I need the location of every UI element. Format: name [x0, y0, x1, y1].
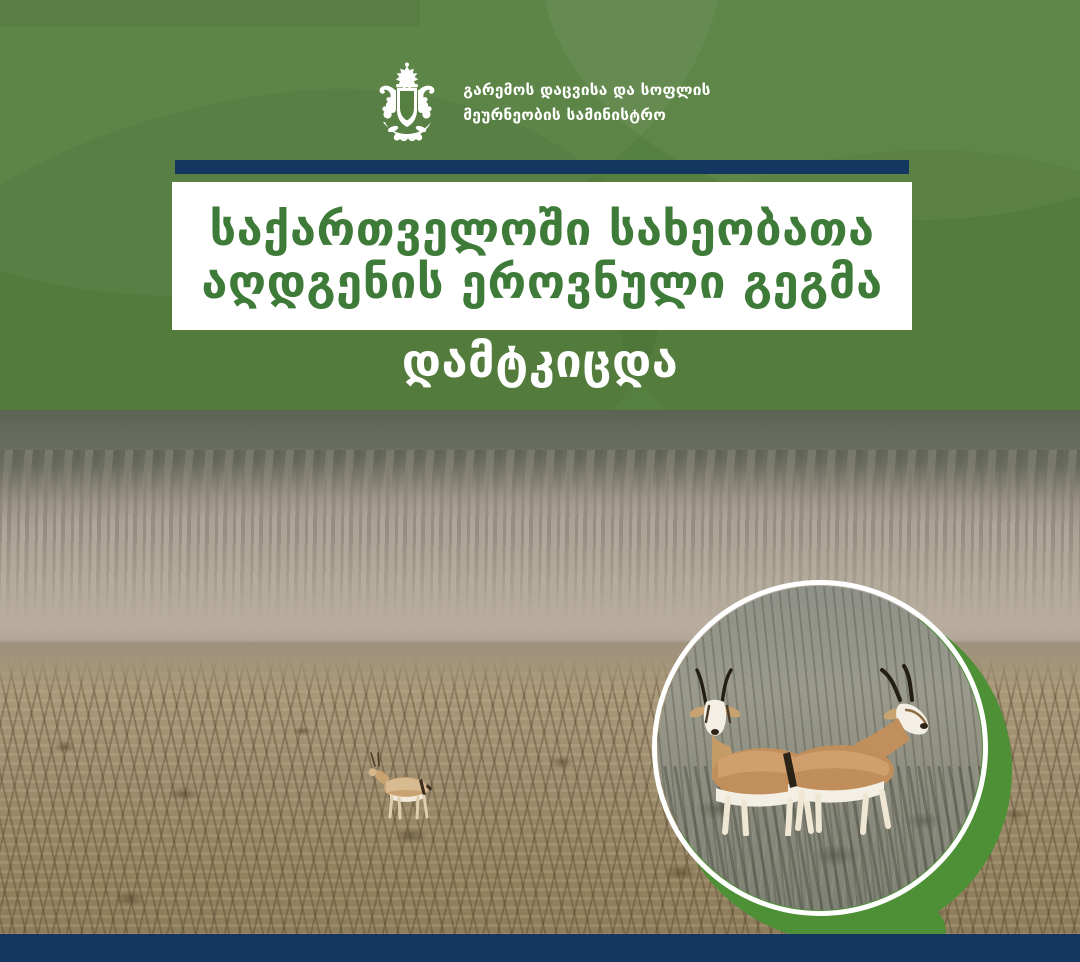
- title-line-3: დამტკიცდა: [0, 336, 1080, 388]
- title-box: საქართველოში სახეობათა აღდგენის ეროვნული…: [172, 182, 912, 330]
- title-line-1: საქართველოში სახეობათა: [209, 203, 874, 256]
- header-top-strip: [0, 0, 420, 26]
- ministry-name-line-2: მეურნეობის სამინისტრო: [463, 103, 710, 128]
- ministry-name: გარემოს დაცვისა და სოფლის მეურნეობის სამ…: [463, 78, 710, 128]
- gazelle-figure-icon: [352, 746, 448, 824]
- ministry-name-line-1: გარემოს დაცვისა და სოფლის: [463, 78, 710, 103]
- ministry-lockup: გარემოს დაცვისა და სოფლის მეურნეობის სამ…: [0, 62, 1080, 144]
- title-top-rule: [175, 160, 909, 174]
- poster-root: გარემოს დაცვისა და სოფლის მეურნეობის სამ…: [0, 0, 1080, 962]
- bottom-navy-bar: [0, 934, 1080, 962]
- title-line-2: აღდგენის ეროვნული გეგმა: [201, 256, 882, 309]
- gazelle-pair-inset: [652, 580, 1012, 940]
- georgia-coat-of-arms-icon: [369, 62, 445, 144]
- inset-white-ring: [652, 580, 988, 916]
